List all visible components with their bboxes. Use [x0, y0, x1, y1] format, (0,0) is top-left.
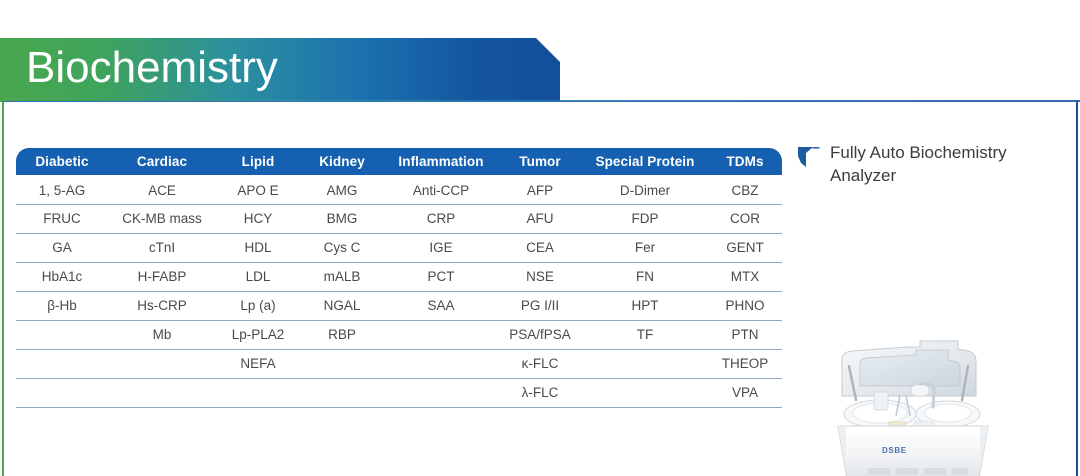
table-cell: FN: [582, 262, 708, 291]
table-cell: AFU: [498, 204, 582, 233]
table-cell: NSE: [498, 262, 582, 291]
table-cell: Fer: [582, 233, 708, 262]
table-cell: MTX: [708, 262, 782, 291]
column-header-diabetic: Diabetic: [16, 148, 108, 175]
table-cell: FRUC: [16, 204, 108, 233]
table-cell: D-Dimer: [582, 175, 708, 204]
table-cell: GENT: [708, 233, 782, 262]
table-cell: VPA: [708, 378, 782, 407]
table-cell: SAA: [384, 291, 498, 320]
table-row: 1, 5-AG ACE APO E AMG Anti-CCP AFP D-Dim…: [16, 175, 782, 204]
product-info: Fully Auto Biochemistry Analyzer: [796, 142, 1072, 188]
table-cell: [582, 349, 708, 378]
product-heading: Fully Auto Biochemistry Analyzer: [796, 142, 1072, 188]
content-panel: Diabetic Cardiac Lipid Kidney Inflammati…: [2, 101, 1078, 476]
flag-marker-icon: [796, 144, 822, 170]
table-cell: FDP: [582, 204, 708, 233]
table-cell: PG I/II: [498, 291, 582, 320]
table-cell: THEOP: [708, 349, 782, 378]
table-cell: CK-MB mass: [108, 204, 216, 233]
table-cell: PHNO: [708, 291, 782, 320]
table-cell: IGE: [384, 233, 498, 262]
table-row: FRUC CK-MB mass HCY BMG CRP AFU FDP COR: [16, 204, 782, 233]
table-header-row: Diabetic Cardiac Lipid Kidney Inflammati…: [16, 148, 782, 175]
table-cell: AMG: [300, 175, 384, 204]
table-cell: NGAL: [300, 291, 384, 320]
table-cell: NEFA: [216, 349, 300, 378]
table-cell: [300, 349, 384, 378]
table-cell: λ-FLC: [498, 378, 582, 407]
table-cell: [108, 349, 216, 378]
table-row: λ-FLC VPA: [16, 378, 782, 407]
table-cell: AFP: [498, 175, 582, 204]
table-cell: [108, 378, 216, 407]
table-cell: [16, 349, 108, 378]
table-cell: Mb: [108, 320, 216, 349]
slide-root: Biochemistry Diabetic Cardiac Lipid Kidn…: [0, 0, 1080, 476]
table-cell: [384, 378, 498, 407]
table-row: HbA1c H-FABP LDL mALB PCT NSE FN MTX: [16, 262, 782, 291]
table-cell: PSA/fPSA: [498, 320, 582, 349]
column-header-tumor: Tumor: [498, 148, 582, 175]
table-row: β-Hb Hs-CRP Lp (a) NGAL SAA PG I/II HPT …: [16, 291, 782, 320]
analyzer-brand-label: DSBE: [882, 446, 907, 455]
table-cell: APO E: [216, 175, 300, 204]
table-cell: ACE: [108, 175, 216, 204]
table-header: Diabetic Cardiac Lipid Kidney Inflammati…: [16, 148, 782, 175]
table-body: 1, 5-AG ACE APO E AMG Anti-CCP AFP D-Dim…: [16, 175, 782, 407]
table-cell: CRP: [384, 204, 498, 233]
table-cell: GA: [16, 233, 108, 262]
page-title: Biochemistry: [0, 46, 278, 94]
table-cell: Anti-CCP: [384, 175, 498, 204]
table-cell: [384, 349, 498, 378]
analyte-table-wrapper: Diabetic Cardiac Lipid Kidney Inflammati…: [16, 148, 782, 408]
table-cell: β-Hb: [16, 291, 108, 320]
table-row: Mb Lp-PLA2 RBP PSA/fPSA TF PTN: [16, 320, 782, 349]
column-header-cardiac: Cardiac: [108, 148, 216, 175]
product-name-label: Fully Auto Biochemistry Analyzer: [830, 142, 1072, 188]
table-cell: HCY: [216, 204, 300, 233]
table-cell: H-FABP: [108, 262, 216, 291]
column-header-inflammation: Inflammation: [384, 148, 498, 175]
table-cell: mALB: [300, 262, 384, 291]
table-cell: PCT: [384, 262, 498, 291]
table-cell: [582, 378, 708, 407]
table-cell: BMG: [300, 204, 384, 233]
biochemistry-analyzer-photo: DSBE: [816, 340, 1046, 476]
table-row: GA cTnI HDL Cys C IGE CEA Fer GENT: [16, 233, 782, 262]
column-header-tdms: TDMs: [708, 148, 782, 175]
table-cell: HPT: [582, 291, 708, 320]
column-header-lipid: Lipid: [216, 148, 300, 175]
table-cell: COR: [708, 204, 782, 233]
table-cell: [300, 378, 384, 407]
table-cell: Cys C: [300, 233, 384, 262]
table-cell: cTnI: [108, 233, 216, 262]
table-cell: [384, 320, 498, 349]
table-cell: HbA1c: [16, 262, 108, 291]
analyte-table: Diabetic Cardiac Lipid Kidney Inflammati…: [16, 148, 782, 408]
table-cell: LDL: [216, 262, 300, 291]
table-cell: TF: [582, 320, 708, 349]
column-header-kidney: Kidney: [300, 148, 384, 175]
table-cell: [16, 320, 108, 349]
table-cell: PTN: [708, 320, 782, 349]
section-banner: Biochemistry: [0, 38, 560, 102]
table-row: NEFA κ-FLC THEOP: [16, 349, 782, 378]
table-cell: Lp (a): [216, 291, 300, 320]
table-cell: [216, 378, 300, 407]
column-header-special-protein: Special Protein: [582, 148, 708, 175]
table-cell: Hs-CRP: [108, 291, 216, 320]
table-cell: HDL: [216, 233, 300, 262]
table-cell: CEA: [498, 233, 582, 262]
table-cell: Lp-PLA2: [216, 320, 300, 349]
table-cell: [16, 378, 108, 407]
table-cell: RBP: [300, 320, 384, 349]
table-cell: CBZ: [708, 175, 782, 204]
table-cell: 1, 5-AG: [16, 175, 108, 204]
table-cell: κ-FLC: [498, 349, 582, 378]
